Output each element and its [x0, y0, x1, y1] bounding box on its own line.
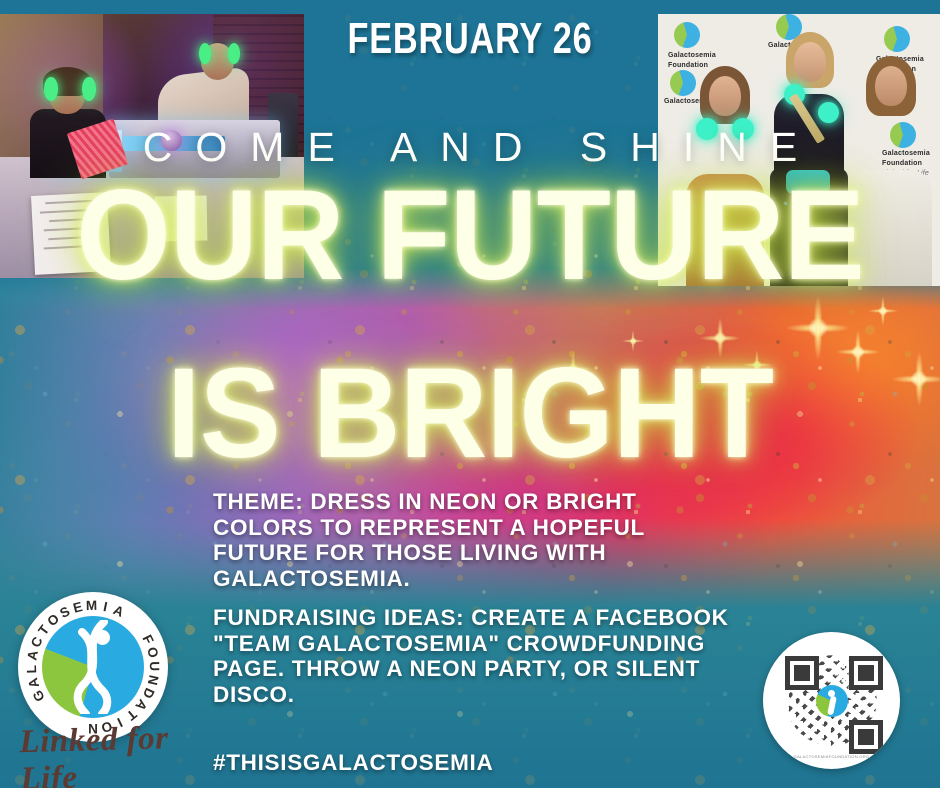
- headline-is-bright: IS BRIGHT: [24, 350, 917, 478]
- galactosemia-foundation-logo: GALACTOSEMIAFOUNDATION: [18, 592, 168, 742]
- theme-description: THEME: DRESS IN NEON OR BRIGHT COLORS TO…: [213, 489, 733, 591]
- event-date: FEBRUARY 26: [103, 14, 836, 64]
- event-poster: Galactosemia Foundation Galactosemia Gal…: [0, 0, 940, 788]
- headline-our-future: OUR FUTURE: [24, 172, 917, 300]
- headphones-icon: [818, 102, 839, 123]
- logo-emblem-icon: [816, 685, 848, 717]
- headphones-icon: [82, 77, 96, 101]
- qr-caption: GALACTOSEMIAFOUNDATION.ORG: [763, 754, 900, 759]
- logo-tagline: Linked for Life: [19, 720, 191, 788]
- top-band: [0, 0, 940, 14]
- qr-code-icon[interactable]: GALACTOSEMIAFOUNDATION.ORG: [763, 632, 900, 769]
- fundraising-ideas: FUNDRAISING IDEAS: CREATE A FACEBOOK "TE…: [213, 605, 733, 707]
- hashtag: #THISISGALACTOSEMIA: [213, 750, 733, 776]
- headphones-icon: [44, 77, 58, 101]
- logo-emblem-icon: [42, 616, 144, 718]
